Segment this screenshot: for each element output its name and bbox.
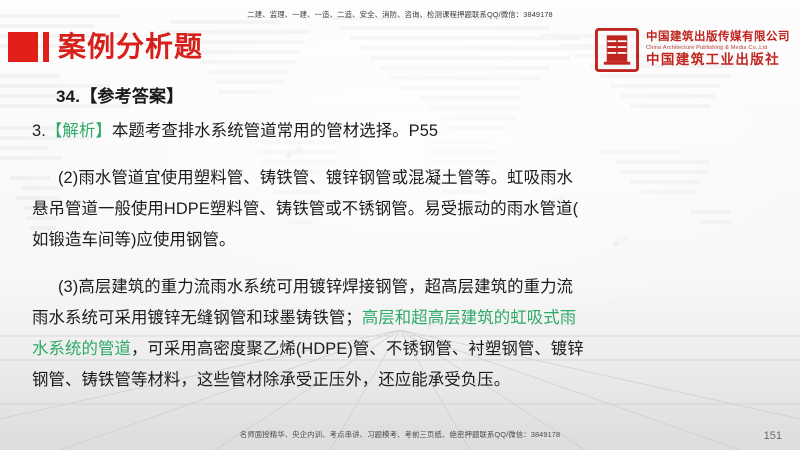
slide-canvas: 建工社 建工社 建工社 建工社 二建、监理、一建、一造、二造、安全、消防、咨询、… [0, 0, 800, 450]
text-line: 3.【解析】本题考查排水系统管道常用的管材选择。P55 [32, 116, 750, 147]
answer-heading: 34.【参考答案】 [56, 82, 750, 107]
highlighted-text: 【解析】 [46, 122, 112, 140]
text-run: (3)高层建筑的重力流雨水系统可用镀锌焊接钢管，超高层建筑的重力流 [58, 278, 573, 296]
paragraph-item-2: (2)雨水管道宜使用塑料管、铸铁管、镀锌钢管或混凝土管等。虹吸雨水悬吊管道一般使… [32, 163, 750, 256]
text-run: 如锻造车间等)应使用钢管。 [32, 231, 235, 249]
highlighted-text: 水系统的管道 [32, 340, 131, 358]
text-run: 钢管、铸铁管等材料，这些管材除承受正压外，还应能承受负压。 [32, 371, 510, 389]
text-run: (2)雨水管道宜使用塑料管、铸铁管、镀锌钢管或混凝土管等。虹吸雨水 [58, 169, 573, 187]
text-line: 如锻造车间等)应使用钢管。 [32, 225, 750, 256]
page-number: 151 [764, 430, 782, 442]
title-bar-decoration [43, 32, 49, 62]
footer-promo-text: 名师面授精华、央企内训、考点串讲、习题模考、考前三页纸、绝密押题联系QQ/微信：… [0, 429, 800, 440]
answer-body: 3.【解析】本题考查排水系统管道常用的管材选择。P55(2)雨水管道宜使用塑料管… [32, 116, 750, 396]
slide-title-block: 案例分析题 [8, 28, 203, 66]
text-line: (3)高层建筑的重力流雨水系统可用镀锌焊接钢管，超高层建筑的重力流 [32, 272, 750, 303]
highlighted-text: 高层和超高层建筑的虹吸式雨 [362, 309, 576, 327]
publisher-name-lines: 中国建筑出版传媒有限公司 China Architecture Publishi… [646, 32, 790, 68]
paragraph-analysis: 3.【解析】本题考查排水系统管道常用的管材选择。P55 [32, 116, 750, 147]
publisher-logo: 中国建筑出版传媒有限公司 China Architecture Publishi… [595, 28, 790, 72]
text-line: 钢管、铸铁管等材料，这些管材除承受正压外，还应能承受负压。 [32, 365, 750, 396]
text-line: (2)雨水管道宜使用塑料管、铸铁管、镀锌钢管或混凝土管等。虹吸雨水 [32, 163, 750, 194]
text-run: 雨水系统可采用镀锌无缝钢管和球墨铸铁管； [32, 309, 362, 327]
text-run: 3. [32, 122, 46, 140]
text-line: 悬吊管道一般使用HDPE塑料管、铸铁管或不锈钢管。易受振动的雨水管道( [32, 194, 750, 225]
paragraph-item-3: (3)高层建筑的重力流雨水系统可用镀锌焊接钢管，超高层建筑的重力流雨水系统可采用… [32, 272, 750, 396]
publisher-emblem-icon [595, 28, 639, 72]
publisher-company-cn: 中国建筑出版传媒有限公司 [646, 32, 790, 44]
publisher-press-cn: 中国建筑工业出版社 [646, 54, 790, 68]
text-run: ，可采用高密度聚乙烯(HDPE)管、不锈钢管、衬塑钢管、镀锌 [131, 340, 584, 358]
title-square-decoration [8, 32, 38, 62]
promo-banner-text: 二建、监理、一建、一造、二造、安全、消防、咨询、检测课程押题联系QQ/微信：38… [0, 9, 800, 20]
page-title: 案例分析题 [58, 32, 203, 62]
text-line: 水系统的管道，可采用高密度聚乙烯(HDPE)管、不锈钢管、衬塑钢管、镀锌 [32, 334, 750, 365]
publisher-company-en: China Architecture Publishing & Media Co… [646, 46, 790, 52]
slide-content: 34.【参考答案】 3.【解析】本题考查排水系统管道常用的管材选择。P55(2)… [32, 82, 750, 396]
text-run: 悬吊管道一般使用HDPE塑料管、铸铁管或不锈钢管。易受振动的雨水管道( [32, 200, 578, 218]
text-run: 本题考查排水系统管道常用的管材选择。P55 [112, 122, 438, 140]
text-line: 雨水系统可采用镀锌无缝钢管和球墨铸铁管；高层和超高层建筑的虹吸式雨 [32, 303, 750, 334]
